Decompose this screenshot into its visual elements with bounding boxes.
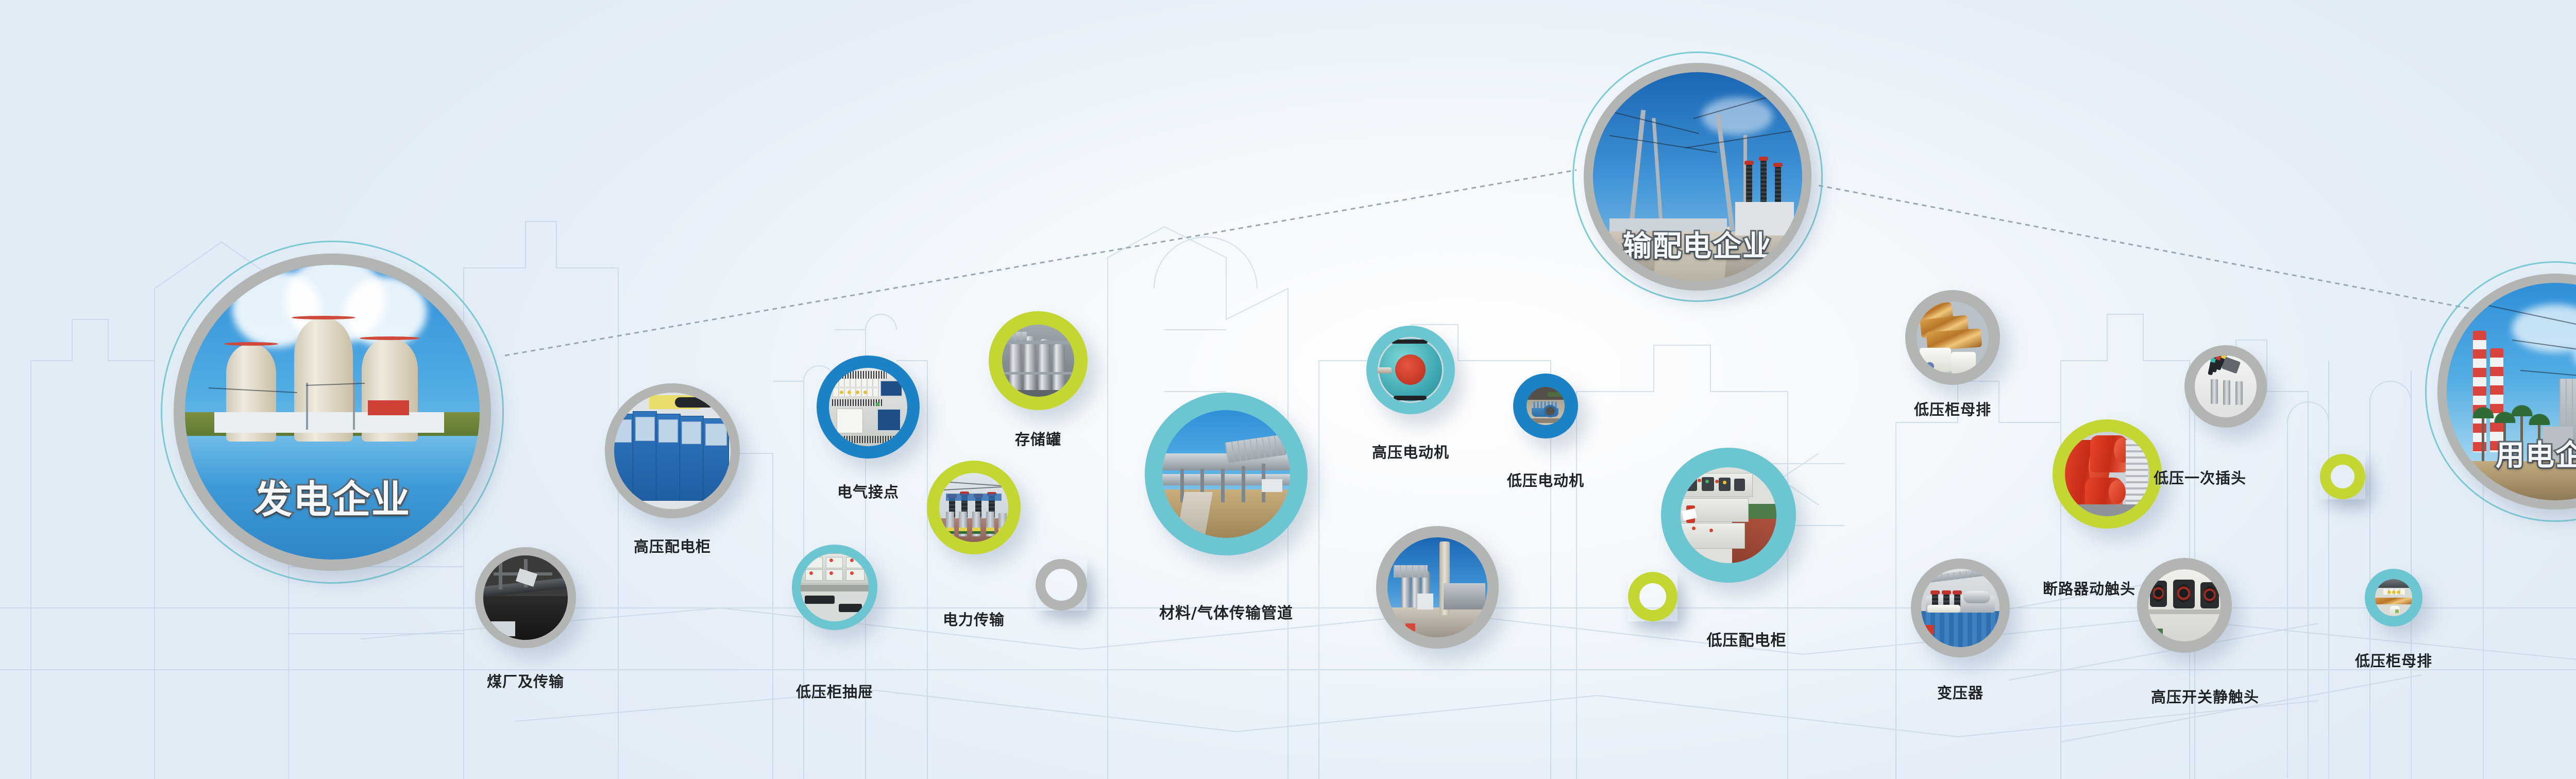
node-lv-primary-plug[interactable] bbox=[2184, 345, 2267, 428]
decor-hollow-ring-green-mid bbox=[1628, 572, 1677, 621]
node-transformer[interactable] bbox=[1911, 558, 2010, 657]
decor-hollow-ring-gray-left bbox=[1036, 559, 1087, 611]
node-lv-cabinet-drawer[interactable] bbox=[792, 545, 877, 630]
node-coal-plant-transport[interactable] bbox=[475, 547, 576, 648]
node-lv-switchgear[interactable] bbox=[1661, 448, 1796, 583]
photo-motor-small bbox=[1527, 387, 1565, 425]
infographic-canvas: 发电企业 bbox=[0, 0, 2576, 779]
hero-title-power-generation: 发电企业 bbox=[254, 469, 411, 524]
node-electrical-contact[interactable] bbox=[817, 355, 920, 459]
photo-substation: 输配电企业 bbox=[1593, 72, 1802, 281]
node-lv-motor[interactable] bbox=[1513, 374, 1578, 438]
caption-lv-motor: 低压电动机 bbox=[1507, 469, 1584, 490]
hero-title-transmission-distribution: 输配电企业 bbox=[1623, 223, 1772, 265]
photo-terminal-block bbox=[829, 368, 907, 446]
caption-lv-busbar-right: 低压柜母排 bbox=[2355, 649, 2432, 671]
photo-hv-cabinet bbox=[614, 393, 731, 509]
node-breaker-moving-contact[interactable] bbox=[2053, 419, 2162, 529]
decor-hollow-ring-green-right bbox=[2320, 454, 2365, 499]
caption-material-gas-pipeline: 材料/气体传输管道 bbox=[1159, 600, 1293, 623]
node-material-gas-pipeline[interactable] bbox=[1145, 393, 1308, 555]
caption-hv-static-contact: 高压开关静触头 bbox=[2151, 685, 2259, 707]
node-transmission-distribution[interactable]: 输配电企业 bbox=[1584, 63, 1811, 291]
caption-breaker-moving-contact: 断路器动触头 bbox=[2043, 577, 2136, 599]
photo-copper-busbar bbox=[1917, 301, 1989, 374]
caption-power-transmission: 电力传输 bbox=[943, 608, 1005, 630]
caption-lv-busbar-top: 低压柜母排 bbox=[1914, 398, 1991, 419]
caption-lv-cabinet-drawer: 低压柜抽屉 bbox=[796, 680, 873, 702]
photo-transformer bbox=[1921, 569, 1999, 647]
node-hv-motor[interactable] bbox=[1366, 326, 1455, 414]
photo-lv-drawer bbox=[801, 553, 869, 621]
node-lv-busbar-top[interactable] bbox=[1905, 290, 2000, 385]
caption-storage-tank: 存储罐 bbox=[1015, 428, 1061, 449]
photo-red-bushing bbox=[2065, 432, 2149, 516]
photo-coal-conveyor bbox=[483, 555, 568, 640]
photo-plant-stacks: 用电企业 bbox=[2447, 283, 2576, 500]
photo-process-plant bbox=[1387, 537, 1487, 637]
photo-pipe-rack bbox=[1162, 410, 1290, 538]
photo-motor-large bbox=[1378, 337, 1444, 403]
caption-hv-motor: 高压电动机 bbox=[1372, 441, 1449, 462]
photo-switchyard bbox=[939, 473, 1008, 542]
caption-lv-switchgear: 低压配电柜 bbox=[1707, 628, 1787, 650]
caption-coal-plant-transport: 煤厂及传输 bbox=[487, 670, 564, 691]
hero-title-power-consumer: 用电企业 bbox=[2496, 432, 2576, 474]
node-power-consumer[interactable]: 用电企业 bbox=[2437, 274, 2576, 510]
caption-hv-switchgear: 高压配电柜 bbox=[634, 535, 711, 556]
node-lv-busbar-right[interactable] bbox=[2365, 569, 2422, 626]
node-power-generation[interactable]: 发电企业 bbox=[174, 253, 491, 571]
photo-mcc-row bbox=[1681, 467, 1776, 563]
caption-electrical-contact: 电气接点 bbox=[837, 480, 899, 502]
photo-plug-jaws bbox=[2195, 355, 2257, 417]
photo-static-contact bbox=[2148, 569, 2221, 641]
caption-lv-primary-plug: 低压一次插头 bbox=[2154, 466, 2246, 488]
node-process-stack[interactable] bbox=[1376, 526, 1499, 649]
caption-transformer: 变压器 bbox=[1937, 681, 1984, 703]
node-hv-switchgear[interactable] bbox=[605, 383, 740, 518]
photo-cooling-towers: 发电企业 bbox=[185, 265, 480, 560]
photo-busbar-terminals bbox=[2375, 579, 2412, 616]
photo-silos bbox=[1002, 325, 1074, 397]
node-storage-tank[interactable] bbox=[989, 311, 1088, 410]
node-hv-static-contact[interactable] bbox=[2137, 558, 2232, 653]
node-power-transmission[interactable] bbox=[927, 461, 1021, 554]
